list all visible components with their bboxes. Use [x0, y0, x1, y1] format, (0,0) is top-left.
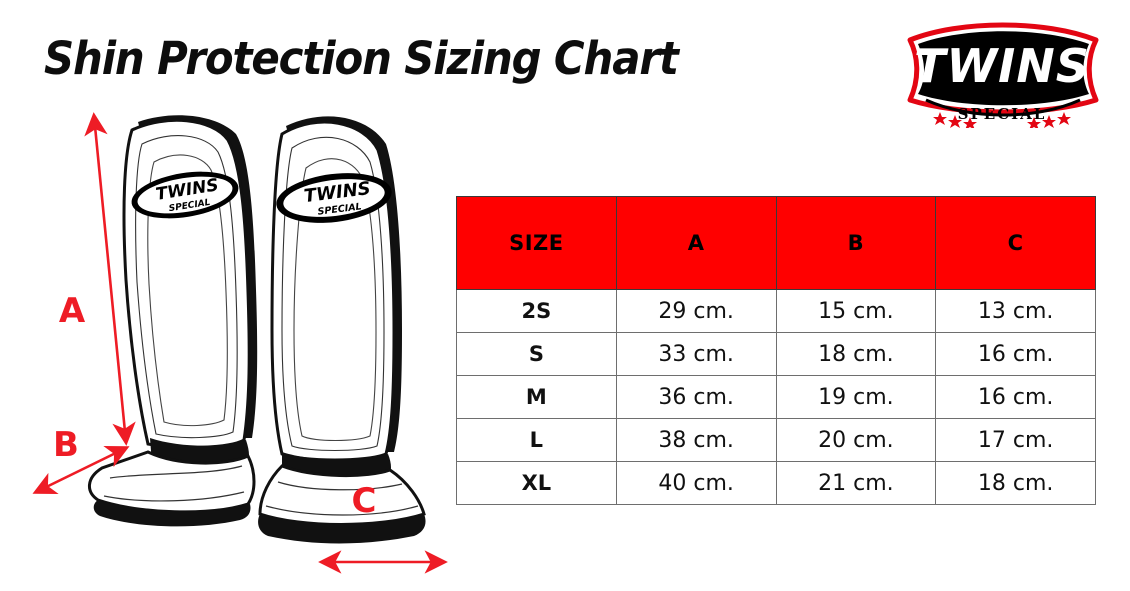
table-row: XL 40 cm. 21 cm. 18 cm.	[457, 462, 1096, 505]
cell-size: M	[457, 376, 617, 419]
cell-c: 16 cm.	[936, 333, 1096, 376]
table-header-row: SIZE A B C	[457, 197, 1096, 290]
cell-a: 38 cm.	[616, 419, 776, 462]
table-row: S 33 cm. 18 cm. 16 cm.	[457, 333, 1096, 376]
shin-plate	[124, 120, 249, 447]
size-table-body: 2S 29 cm. 15 cm. 13 cm. S 33 cm. 18 cm. …	[457, 290, 1096, 505]
cell-b: 18 cm.	[776, 333, 936, 376]
cell-b: 15 cm.	[776, 290, 936, 333]
table-row: M 36 cm. 19 cm. 16 cm.	[457, 376, 1096, 419]
size-table-head: SIZE A B C	[457, 197, 1096, 290]
front-instep-pad	[260, 466, 424, 525]
cell-size: L	[457, 419, 617, 462]
cell-c: 17 cm.	[936, 419, 1096, 462]
cell-b: 20 cm.	[776, 419, 936, 462]
cell-b: 19 cm.	[776, 376, 936, 419]
cell-size: 2S	[457, 290, 617, 333]
measure-label-c: C	[352, 481, 377, 521]
page-title: Shin Protection Sizing Chart	[44, 32, 678, 85]
cell-c: 16 cm.	[936, 376, 1096, 419]
cell-c: 13 cm.	[936, 290, 1096, 333]
cell-b: 21 cm.	[776, 462, 936, 505]
measure-arrow-a	[94, 116, 126, 442]
shin-guard-illustration: TWINS SPECIAL	[20, 100, 470, 585]
table-row: L 38 cm. 20 cm. 17 cm.	[457, 419, 1096, 462]
size-table: SIZE A B C 2S 29 cm. 15 cm. 13 cm. S 33 …	[456, 196, 1096, 505]
column-header-size: SIZE	[457, 197, 617, 290]
cell-a: 29 cm.	[616, 290, 776, 333]
column-header-c: C	[936, 197, 1096, 290]
table-row: 2S 29 cm. 15 cm. 13 cm.	[457, 290, 1096, 333]
size-table-container: SIZE A B C 2S 29 cm. 15 cm. 13 cm. S 33 …	[456, 196, 1096, 505]
cell-size: XL	[457, 462, 617, 505]
instep-pad	[89, 452, 254, 512]
cell-a: 40 cm.	[616, 462, 776, 505]
logo-wordmark: TWINS	[914, 39, 1090, 93]
cell-a: 33 cm.	[616, 333, 776, 376]
measure-label-b: B	[53, 425, 79, 465]
cell-a: 36 cm.	[616, 376, 776, 419]
column-header-b: B	[776, 197, 936, 290]
column-header-a: A	[616, 197, 776, 290]
measure-label-a: A	[59, 291, 86, 331]
shin-guard-front-view: TWINS SPECIAL	[258, 116, 425, 543]
twins-special-logo: TWINS SPECIAL	[900, 16, 1105, 128]
sizing-chart-page: Shin Protection Sizing Chart TWINS SPECI…	[0, 0, 1130, 591]
cell-c: 18 cm.	[936, 462, 1096, 505]
cell-size: S	[457, 333, 617, 376]
